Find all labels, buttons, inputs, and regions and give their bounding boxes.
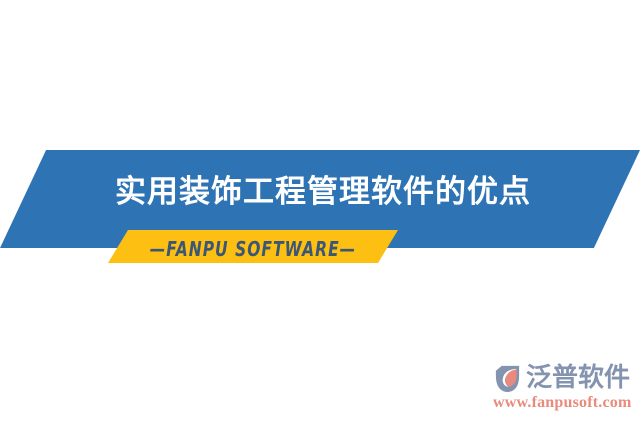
brand-name: 泛普软件 [526, 363, 630, 393]
slide-canvas: 实用装饰工程管理软件的优点 —FANPU SOFTWARE— 泛普软件 www.… [0, 0, 640, 427]
fanpu-hexagon-logo-icon [492, 363, 523, 394]
subtitle-ribbon-label: —FANPU SOFTWARE— [128, 232, 377, 265]
brand-logo-row: 泛普软件 [492, 360, 630, 396]
brand-logo: 泛普软件 www.fanpusoft.com [492, 360, 634, 418]
page-title: 实用装饰工程管理软件的优点 [0, 172, 640, 212]
brand-website: www.fanpusoft.com [493, 394, 632, 412]
